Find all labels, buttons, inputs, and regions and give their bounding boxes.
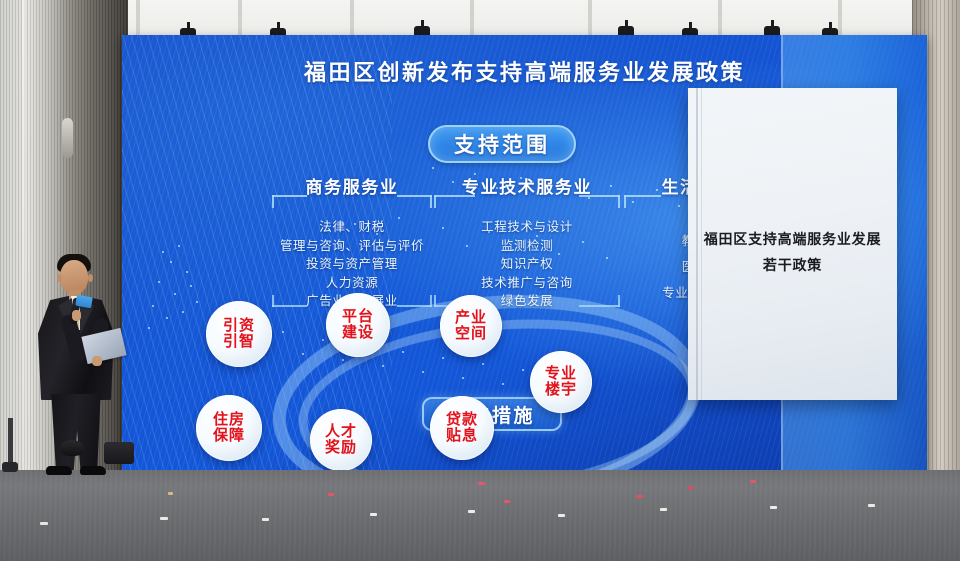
equipment-box [104,442,134,464]
policy-title-line-2: 若干政策 [700,252,885,278]
bracket-decoration [434,195,620,209]
bubble-line-1: 贷款 [446,412,478,428]
page-title: 福田区创新发布支持高端服务业发展政策 [122,55,927,87]
stage-monitor-speaker [60,440,84,456]
list-item: 技术推广与咨询 [434,274,620,293]
measure-bubble-loan-interest-subsidy: 贷款 贴息 [430,396,494,460]
confetti [328,493,334,496]
bubble-line-2: 建设 [342,325,374,341]
confetti [468,510,475,513]
category-column-professional-technical-services: 专业技术服务业 工程技术与设计 监测检测 知识产权 技术推广与咨询 绿色发展 [434,173,620,311]
list-item: 投资与资产管理 [272,255,432,274]
stage-scene: 福田区创新发布支持高端服务业发展政策 支持范围 商务服务业 法律、财税 管理与咨… [0,0,960,561]
bubble-line-2: 引智 [223,334,255,350]
bubble-line-2: 空间 [455,326,487,342]
bubble-line-2: 奖励 [325,440,357,456]
confetti [660,508,667,511]
confetti [160,517,168,520]
bubble-line-1: 平台 [342,309,374,325]
support-scope-badge: 支持范围 [428,125,576,163]
mic-stand-base [2,462,18,472]
confetti [478,482,485,485]
bubble-line-1: 人才 [325,424,357,440]
policy-document-panel: 福田区支持高端服务业发展 若干政策 [688,88,897,400]
floor [0,470,960,561]
policy-document-title: 福田区支持高端服务业发展 若干政策 [700,226,885,278]
category-column-business-services: 商务服务业 法律、财税 管理与咨询、评估与评价 投资与资产管理 人力资源 广告业… [272,173,432,311]
list-item: 人力资源 [272,274,432,293]
bubble-line-2: 楼宇 [545,382,577,398]
bubble-line-1: 住房 [213,412,245,428]
list-item: 工程技术与设计 [434,218,620,237]
confetti [370,513,377,516]
measure-bubble-investment-talent: 引资 引智 [206,301,272,367]
confetti [168,492,173,495]
bubble-line-1: 产业 [455,310,487,326]
policy-title-line-1: 福田区支持高端服务业发展 [700,226,885,252]
bracket-decoration [272,195,432,209]
confetti [558,514,565,517]
measure-bubble-housing-support: 住房 保障 [196,395,262,461]
bubble-line-2: 保障 [213,428,245,444]
head [60,260,88,294]
confetti [868,504,875,507]
list-item: 管理与咨询、评估与评价 [272,237,432,256]
confetti [688,486,694,489]
confetti [262,518,269,521]
confetti [750,480,756,483]
bubble-line-1: 引资 [223,318,255,334]
bubble-line-2: 贴息 [446,428,478,444]
list-item: 法律、财税 [272,218,432,237]
measure-bubble-industrial-space: 产业 空间 [440,295,502,357]
measure-bubble-talent-award: 人才 奖励 [310,409,372,471]
measure-bubble-professional-buildings: 专业 楼宇 [530,351,592,413]
measure-bubble-platform-construction: 平台 建设 [326,293,390,357]
confetti [40,522,48,525]
confetti [504,500,510,503]
bubble-line-1: 专业 [545,366,577,382]
support-scope-label: 支持范围 [454,129,550,159]
list-item: 知识产权 [434,255,620,274]
list-item: 监测检测 [434,237,620,256]
confetti [636,495,643,498]
confetti [770,506,777,509]
